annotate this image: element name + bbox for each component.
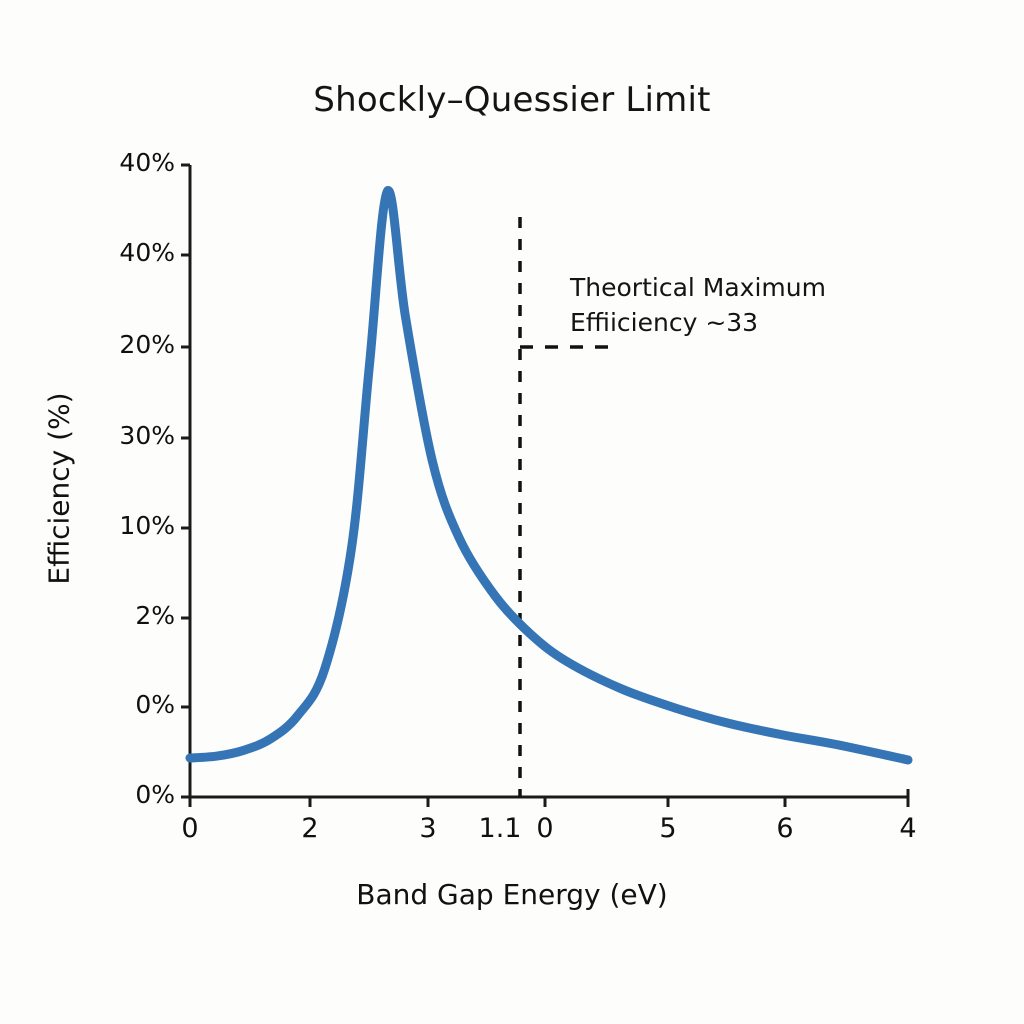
- y-tick-label: 20%: [40, 330, 175, 359]
- x-tick-label: 5: [608, 813, 728, 844]
- y-axis-title: Efficiency (%): [43, 359, 76, 619]
- y-tick-label: 0%: [40, 780, 175, 809]
- peak-annotation-line-2: Effiiciency ~33: [570, 305, 826, 340]
- x-tick-label: 0: [485, 813, 605, 844]
- x-tick-label: 6: [725, 813, 845, 844]
- x-tick-label: 0: [130, 813, 250, 844]
- x-tick-label: 4: [848, 813, 968, 844]
- peak-annotation-line-1: Theortical Maximum: [570, 270, 826, 305]
- y-tick-label: 40%: [40, 148, 175, 177]
- y-tick-label: 40%: [40, 238, 175, 267]
- y-tick-label: 0%: [40, 690, 175, 719]
- x-tick-label: 2: [250, 813, 370, 844]
- peak-annotation: Theortical Maximum Effiiciency ~33: [570, 270, 826, 340]
- x-axis-title: Band Gap Energy (eV): [0, 878, 1024, 911]
- chart-figure: Shockly–Quessier Limit 40%40%20%30%10%2%…: [0, 0, 1024, 1024]
